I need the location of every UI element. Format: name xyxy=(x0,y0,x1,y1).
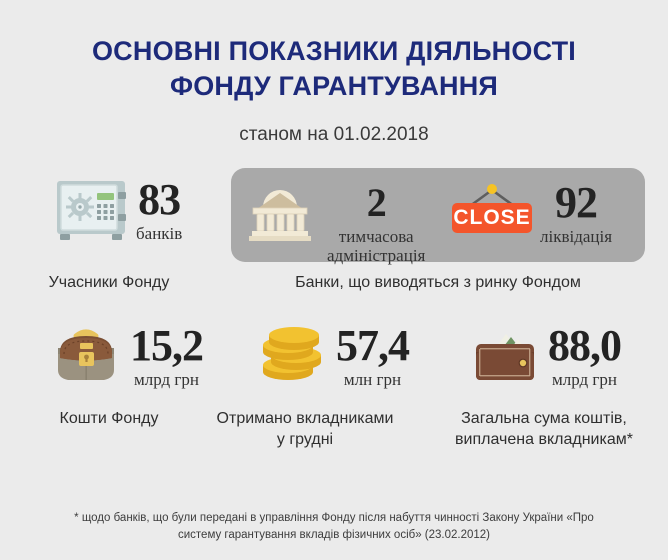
caption-total-paid-line-2: виплачена вкладникам* xyxy=(455,431,633,448)
stat-fund-members-value: 83 xyxy=(136,178,182,222)
footnote-line-1: * щодо банків, що були передані в управл… xyxy=(74,512,594,524)
stat-fund-assets-unit: млрд грн xyxy=(130,370,203,389)
stat-temporary-administration-text: 2 тимчасова адміністрація xyxy=(327,181,425,265)
caption-fund-assets: Кошти Фонду xyxy=(14,408,204,429)
coins-icon xyxy=(258,324,326,386)
stat-temporary-administration-unit-line-1: тимчасова xyxy=(327,227,425,246)
stats-row-banks: 83 банків Учасники Фонду xyxy=(0,168,668,308)
caption-fund-members: Учасники Фонду xyxy=(14,272,204,293)
stat-total-paid-unit: млрд грн xyxy=(548,370,621,389)
bank-building-icon xyxy=(243,181,317,243)
stat-total-paid-value: 88,0 xyxy=(548,324,621,368)
caption-total-paid: Загальна сума коштів, виплачена вкладник… xyxy=(428,408,660,450)
stat-received-in-december-unit: млн грн xyxy=(336,370,409,389)
briefcase-icon xyxy=(50,324,122,386)
stat-temporary-administration-value: 2 xyxy=(327,181,425,225)
stats-row-money: 15,2 млрд грн Кошти Фонду xyxy=(0,314,668,464)
stat-received-in-december: 57,4 млн грн xyxy=(258,324,409,389)
stat-fund-assets-value: 15,2 xyxy=(130,324,203,368)
safe-icon xyxy=(54,178,128,244)
caption-received-in-december-line-2: у грудні xyxy=(277,431,333,448)
stat-total-paid-text: 88,0 млрд грн xyxy=(548,324,621,389)
wallet-icon xyxy=(468,324,542,386)
stat-fund-assets-text: 15,2 млрд грн xyxy=(130,324,203,389)
stat-temporary-administration-unit-line-2: адміністрація xyxy=(327,246,425,265)
stat-liquidation-value: 92 xyxy=(540,181,612,225)
stat-liquidation: CLOSE 92 ліквідація xyxy=(450,181,612,246)
caption-received-in-december: Отримано вкладниками у грудні xyxy=(190,408,420,450)
stat-fund-members: 83 банків xyxy=(54,178,182,244)
page-title-line-2: ФОНДУ ГАРАНТУВАННЯ xyxy=(0,69,668,104)
stat-liquidation-text: 92 ліквідація xyxy=(540,181,612,246)
caption-received-in-december-line-1: Отримано вкладниками xyxy=(217,410,394,427)
stat-received-in-december-text: 57,4 млн грн xyxy=(336,324,409,389)
stat-total-paid: 88,0 млрд грн xyxy=(468,324,621,389)
stat-fund-members-text: 83 банків xyxy=(136,178,182,243)
stat-temporary-administration: 2 тимчасова адміністрація xyxy=(243,181,425,265)
stat-received-in-december-value: 57,4 xyxy=(336,324,409,368)
stat-fund-members-unit: банків xyxy=(136,224,182,243)
page-title-line-1: ОСНОВНІ ПОКАЗНИКИ ДІЯЛЬНОСТІ xyxy=(0,34,668,69)
stat-liquidation-unit: ліквідація xyxy=(540,227,612,246)
stat-fund-assets: 15,2 млрд грн xyxy=(50,324,203,389)
caption-total-paid-line-1: Загальна сума коштів, xyxy=(461,410,627,427)
footnote: * щодо банків, що були передані в управл… xyxy=(28,510,640,544)
close-sign-label: CLOSE xyxy=(453,206,530,229)
page-subtitle-date: станом на 01.02.2018 xyxy=(0,124,668,146)
page-title: ОСНОВНІ ПОКАЗНИКИ ДІЯЛЬНОСТІ ФОНДУ ГАРАН… xyxy=(0,34,668,104)
close-sign-icon: CLOSE xyxy=(450,181,534,243)
caption-market-exit-panel: Банки, що виводяться з ринку Фондом xyxy=(231,272,645,293)
footnote-line-2: систему гарантування вкладів фізичних ос… xyxy=(178,529,490,541)
header: ОСНОВНІ ПОКАЗНИКИ ДІЯЛЬНОСТІ ФОНДУ ГАРАН… xyxy=(0,0,668,146)
